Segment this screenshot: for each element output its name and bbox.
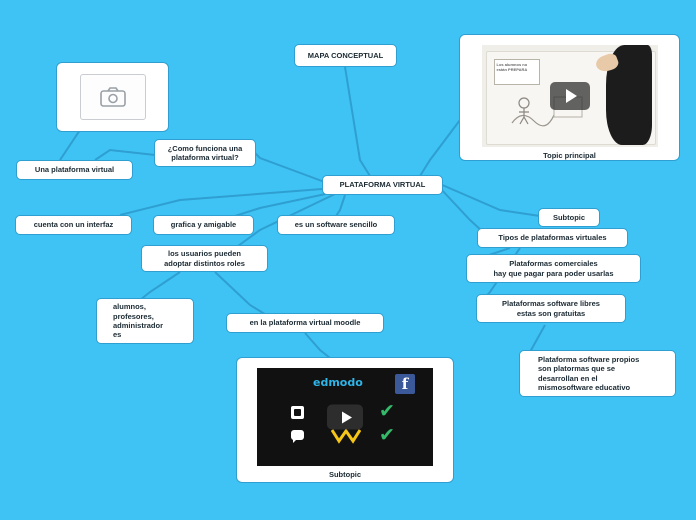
edmodo-logo-text: edmodo (313, 376, 363, 389)
edge-plataforma-to-como (255, 153, 330, 184)
play-icon[interactable] (550, 82, 590, 110)
node-grafica-amigable[interactable]: grafica y amigable (153, 215, 254, 235)
edge-plataforma-to-software (336, 195, 345, 216)
edge-moodle-to-subtopic-card (305, 333, 330, 358)
node-software-sencillo[interactable]: es un software sencillo (277, 215, 395, 235)
facebook-icon: f (395, 374, 415, 394)
edge-como-to-una (95, 150, 155, 160)
node-plataformas-comerciales[interactable]: Plataformas comerciales hay que pagar pa… (466, 254, 641, 283)
camera-icon (100, 87, 126, 107)
play-triangle (342, 411, 352, 423)
play-triangle (566, 89, 577, 103)
subtopic-caption: Subtopic (245, 470, 445, 479)
node-plataformas-libres[interactable]: Plataformas software libres estas son gr… (476, 294, 626, 323)
topic-principal-caption: Topic principal (468, 151, 671, 160)
image-frame (80, 74, 146, 120)
edge-plataforma-to-cuenta (120, 188, 335, 215)
node-plataforma-virtual[interactable]: PLATAFORMA VIRTUAL (322, 175, 443, 195)
node-como-funciona[interactable]: ¿Como funciona una plataforma virtual? (154, 139, 256, 167)
subtopic-video-frame[interactable]: edmodo f ✔ ✔ (257, 368, 433, 466)
node-usuarios-roles[interactable]: los usuarios pueden adoptar distintos ro… (141, 245, 268, 272)
image-placeholder-node[interactable] (56, 62, 169, 132)
zigzag-icon (331, 428, 361, 444)
edge-mapa-to-plataforma (345, 67, 370, 176)
node-alumnos-profesores[interactable]: alumnos, profesores, administrador es (96, 298, 194, 344)
edge-plataforma-to-subtopic (440, 184, 540, 216)
node-subtopic-right[interactable]: Subtopic (538, 208, 600, 227)
edge-usuarios-to-alumnos (140, 272, 180, 300)
topic-principal-card[interactable]: Los alumnos no están PREPARA Topic princ… (459, 34, 680, 161)
subtopic-card[interactable]: edmodo f ✔ ✔ Subtopic (236, 357, 454, 483)
chat-icon (291, 430, 304, 440)
node-plataformas-propios[interactable]: Plataforma software propios son platorma… (519, 350, 676, 397)
check-icon-1: ✔ (379, 402, 395, 421)
node-moodle[interactable]: en la plataforma virtual moodle (226, 313, 384, 333)
topic-video-frame[interactable]: Los alumnos no están PREPARA (482, 45, 658, 147)
edge-topic-to-plataforma (420, 120, 460, 176)
play-icon[interactable] (327, 405, 363, 430)
edge-plataforma-to-grafica (235, 192, 335, 216)
edge-plataforma-to-tipos (440, 188, 482, 231)
board-icon (291, 406, 304, 419)
node-tipos-plataformas[interactable]: Tipos de plataformas virtuales (477, 228, 628, 248)
edge-usuarios-to-moodle (215, 272, 268, 316)
node-una-plataforma-virtual[interactable]: Una plataforma virtual (16, 160, 133, 180)
node-cuenta-interfaz[interactable]: cuenta con un interfaz (15, 215, 132, 235)
sketch-note: Los alumnos no están PREPARA (494, 59, 540, 85)
check-icon-2: ✔ (379, 426, 395, 445)
node-mapa-conceptual[interactable]: MAPA CONCEPTUAL (294, 44, 397, 67)
mindmap-canvas: MAPA CONCEPTUAL ¿Como funciona una plata… (0, 0, 696, 520)
